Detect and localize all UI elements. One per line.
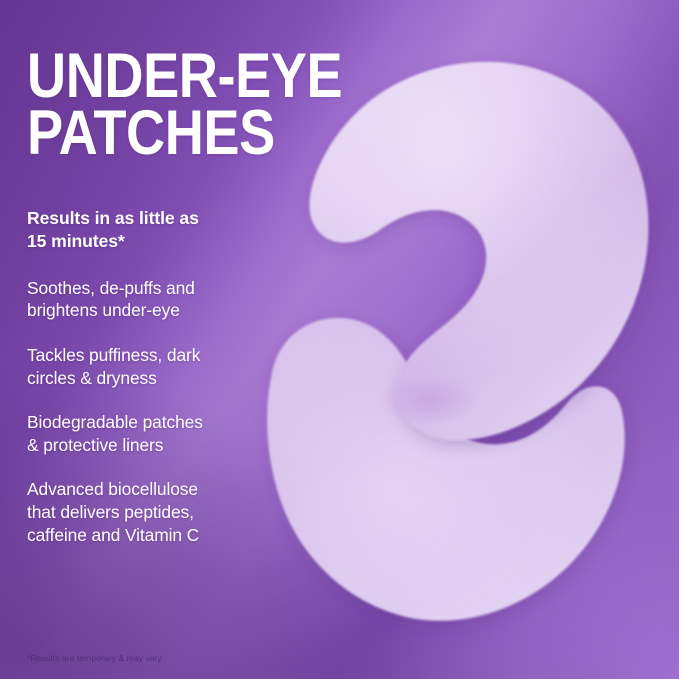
benefit-tackles: Tackles puffiness, dark circles & drynes… — [27, 344, 289, 389]
benefit-results-time: Results in as little as 15 minutes* — [27, 207, 289, 253]
benefit-soothes: Soothes, de-puffs and brightens under-ey… — [27, 277, 289, 322]
footnote-disclaimer: *Results are temporary & may vary — [27, 653, 162, 663]
benefits-list: Results in as little as 15 minutes* Soot… — [27, 207, 289, 546]
patch-overlap-shadow — [378, 374, 482, 426]
benefit-biodegradable: Biodegradable patches & protective liner… — [27, 411, 289, 456]
product-infographic: UNDER-EYE PATCHES Results in as little a… — [0, 0, 679, 679]
benefit-biocellulose: Advanced biocellulose that delivers pept… — [27, 478, 289, 546]
page-title: UNDER-EYE PATCHES — [27, 48, 371, 161]
